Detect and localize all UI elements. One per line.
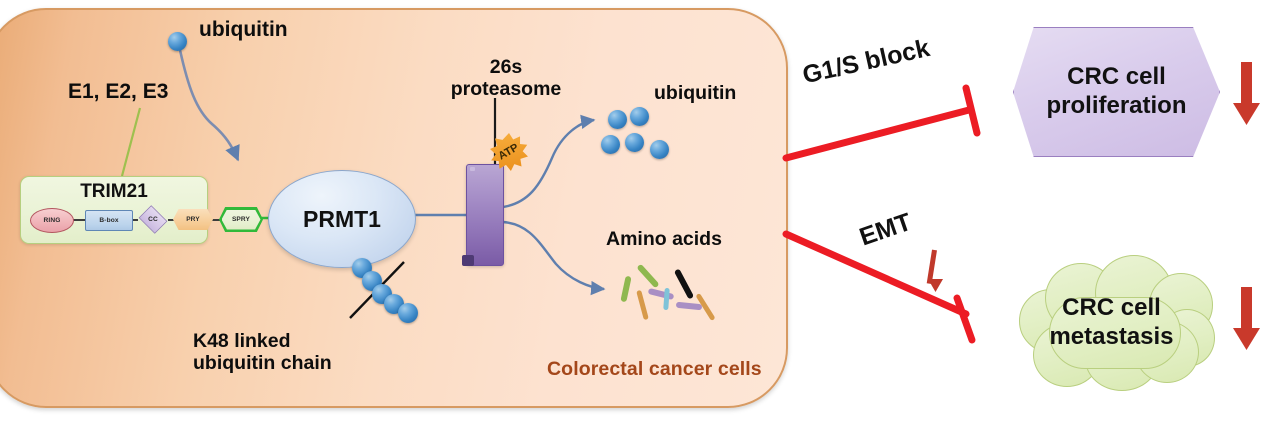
leader-enzymes-to-trim21	[122, 108, 140, 176]
metastasis-decrease-arrow-icon	[1233, 287, 1260, 350]
released-ubiquitin-3	[601, 135, 620, 154]
trim21-domain-bbox: B-box	[85, 210, 133, 231]
arrow-head	[928, 279, 943, 292]
label-26s-line1: 26s	[441, 57, 571, 79]
output-metastasis-label: CRC cell metastasis	[1049, 294, 1173, 352]
output-proliferation-line1: CRC cell	[1046, 63, 1186, 92]
trim21-title: TRIM21	[21, 181, 207, 203]
trim21-domain-ring-label: RING	[44, 217, 61, 224]
label-amino-acids: Amino acids	[606, 228, 722, 251]
trim21-domain-pry-label: PRY	[186, 216, 200, 223]
proteasome-top-nub	[470, 167, 475, 171]
label-k48-ubiquitin-chain: K48 linked ubiquitin chain	[193, 330, 373, 375]
arrow-head	[1233, 328, 1260, 350]
label-e1-e2-e3: E1, E2, E3	[68, 80, 168, 104]
trim21-domain-cc: CC	[137, 207, 169, 232]
diagram-canvas: ubiquitin E1, E2, E3 26s proteasome ubiq…	[0, 0, 1269, 422]
trim21-domain-bbox-label: B-box	[99, 217, 118, 224]
ubiquitin-sphere-free	[168, 32, 187, 51]
output-proliferation-label: CRC cell proliferation	[1046, 63, 1186, 121]
arrow-ubiquitin-to-prmt1	[180, 50, 238, 160]
arrow-head	[1233, 103, 1260, 125]
output-crc-cell-metastasis: CRC cell metastasis	[1009, 253, 1214, 393]
output-crc-cell-proliferation: CRC cell proliferation	[1013, 27, 1220, 157]
trim21-domain-ring: RING	[30, 208, 74, 233]
emt-down-arrow-icon	[928, 250, 943, 294]
trim21-domain-spry: SPRY	[219, 207, 263, 232]
proteasome-foot	[462, 255, 474, 266]
inhibitor-emt	[786, 234, 972, 340]
output-metastasis-line2: metastasis	[1049, 323, 1173, 352]
output-proliferation-line2: proliferation	[1046, 92, 1186, 121]
proliferation-decrease-arrow-icon	[1233, 62, 1260, 125]
released-ubiquitin-1	[608, 110, 627, 129]
released-ubiquitin-2	[630, 107, 649, 126]
trim21-domain-pry: PRY	[173, 209, 213, 230]
proteasome-26s	[466, 164, 504, 266]
output-metastasis-line1: CRC cell	[1049, 294, 1173, 323]
arrow-shaft	[1241, 62, 1252, 106]
label-ubiquitin-top: ubiquitin	[199, 18, 288, 42]
trim21-box: TRIM21 RING B-box CC PRY SPRY	[20, 176, 208, 244]
inhibitor-g1s-block	[786, 88, 977, 158]
prmt1-node: PRMT1	[268, 170, 416, 268]
released-ubiquitin-5	[650, 140, 669, 159]
arrow-proteasome-to-amino-acids	[503, 222, 604, 289]
released-ubiquitin-4	[625, 133, 644, 152]
trim21-domain-spry-label: SPRY	[232, 216, 250, 223]
label-ubiquitin-released: ubiquitin	[654, 82, 736, 105]
arrow-shaft	[927, 250, 937, 284]
trim21-domain-cc-label: CC	[148, 216, 158, 223]
label-26s-proteasome: 26s proteasome	[441, 57, 571, 101]
label-colorectal-cancer-cells: Colorectal cancer cells	[547, 358, 762, 381]
label-k48-line1: K48 linked	[193, 330, 373, 352]
label-k48-line2: ubiquitin chain	[193, 352, 373, 374]
arrow-shaft	[1241, 287, 1252, 331]
k48-chain-sphere-5	[398, 303, 418, 323]
prmt1-label: PRMT1	[303, 206, 381, 233]
label-26s-line2: proteasome	[441, 79, 571, 101]
atp-label: ATP	[497, 142, 521, 163]
